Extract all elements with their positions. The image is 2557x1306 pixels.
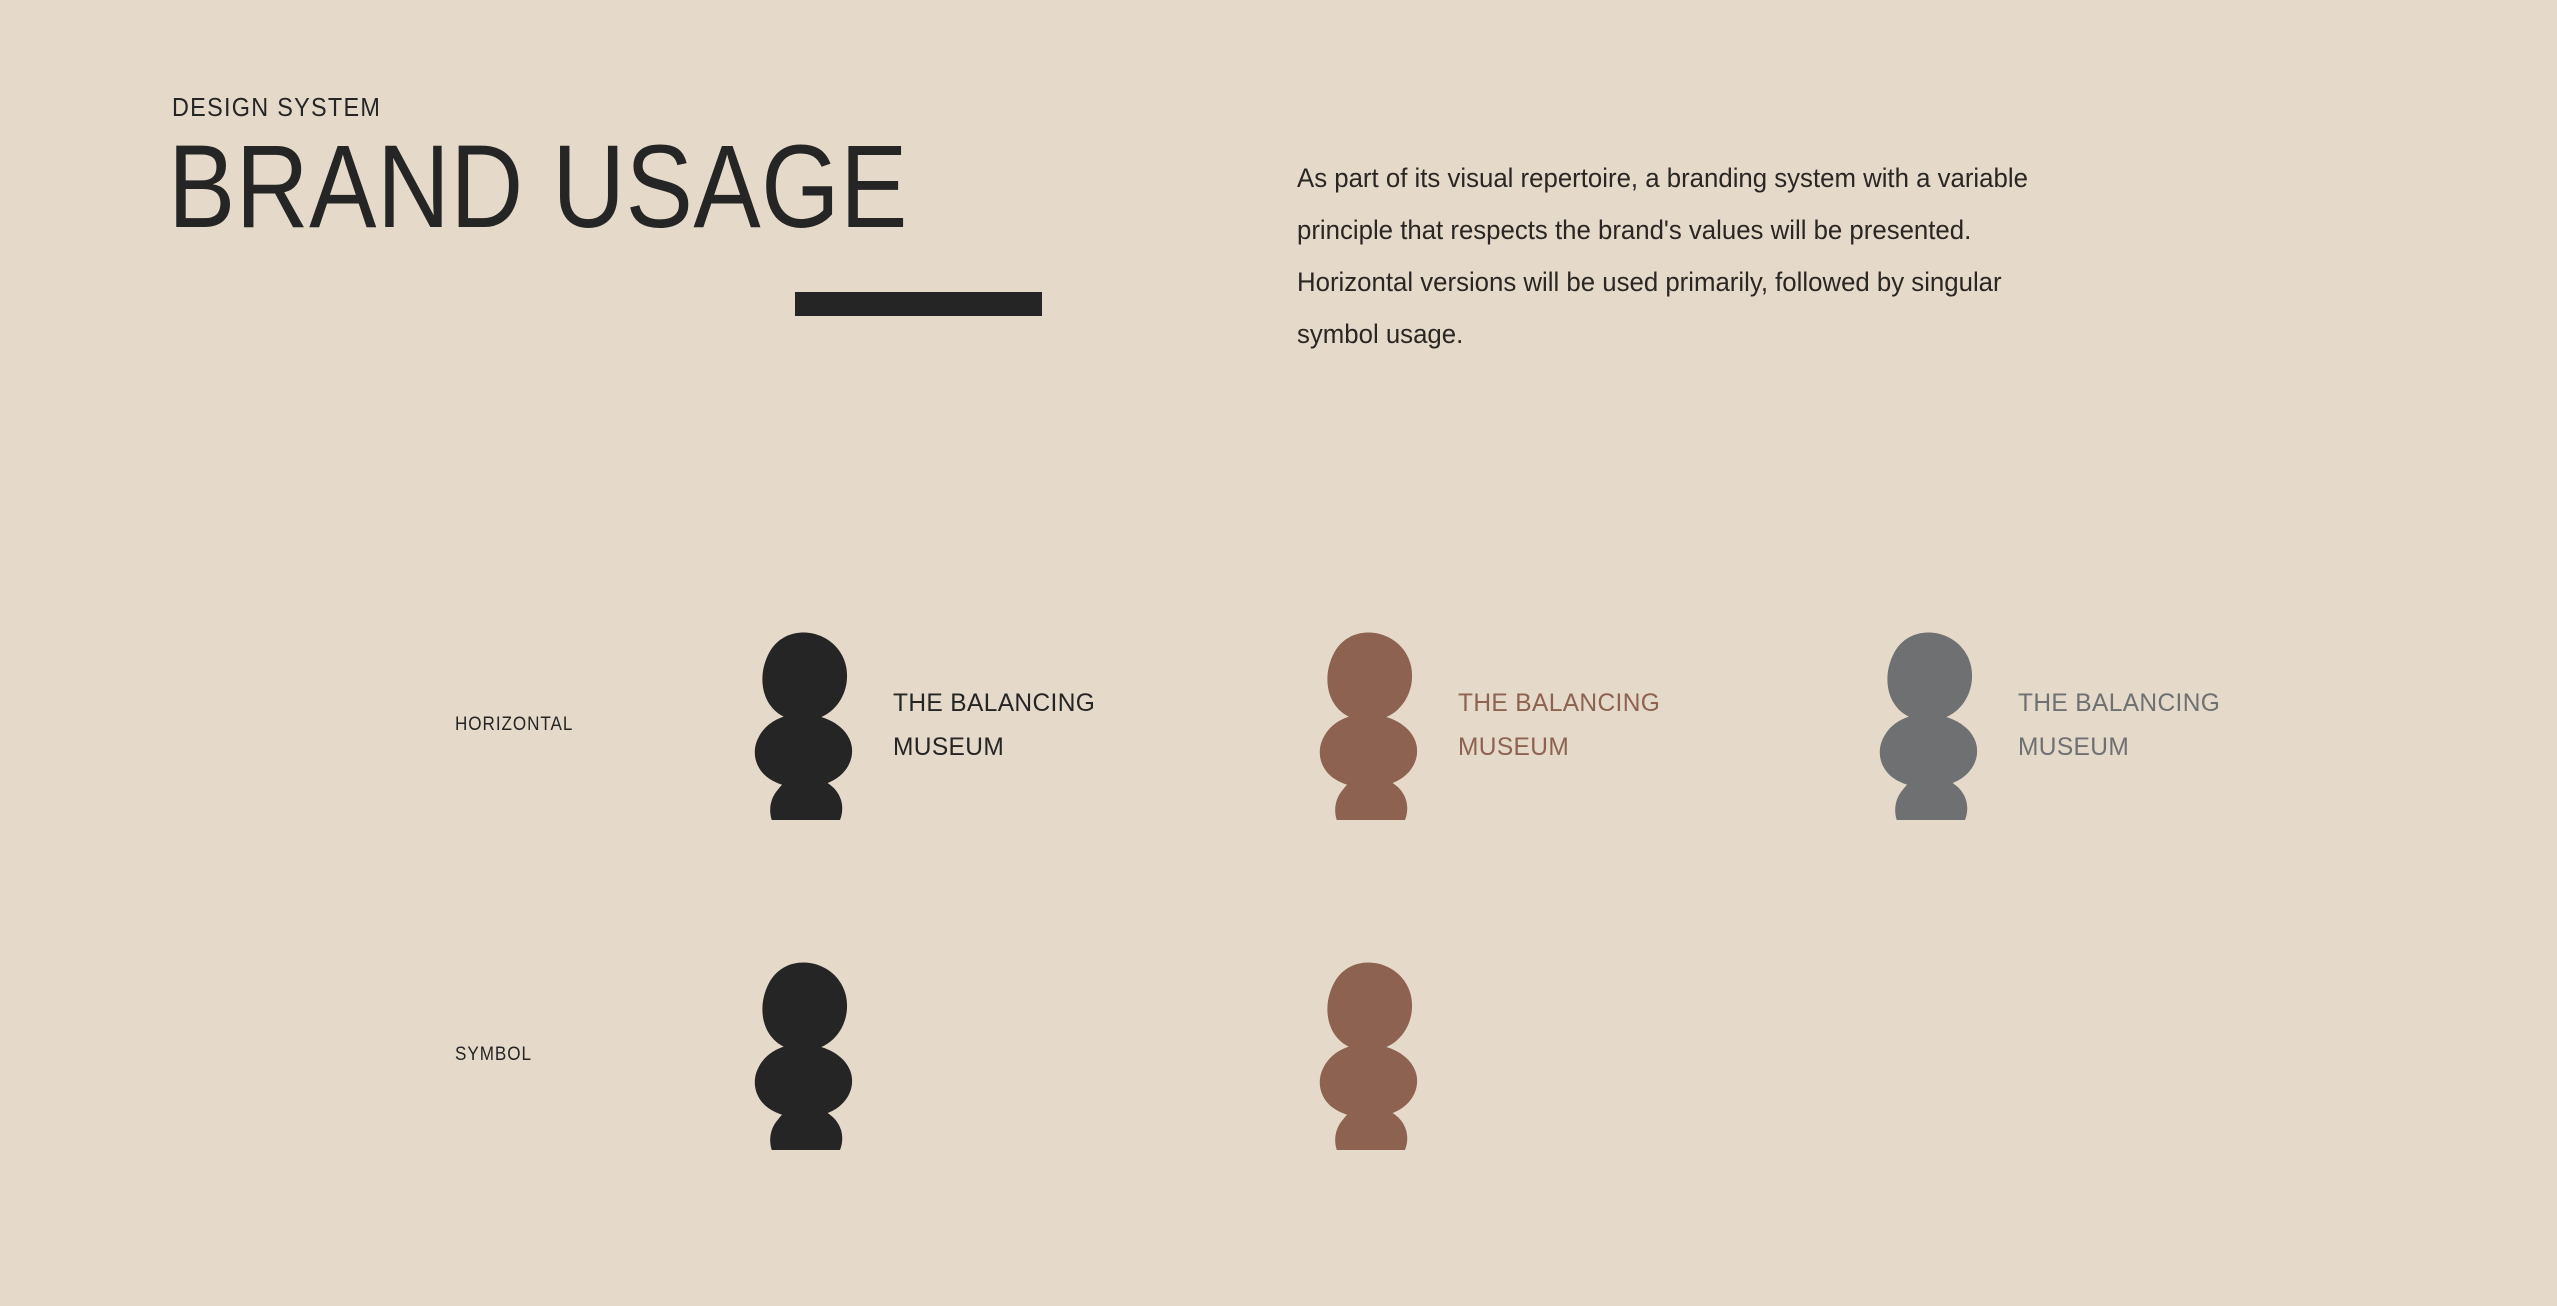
page-header: DESIGN SYSTEM BRAND USAGE As part of its…	[0, 0, 2557, 400]
wordmark-text-gray: THE BALANCING MUSEUM	[2018, 681, 2220, 769]
balancing-stones-icon	[1860, 630, 1992, 820]
row-label-horizontal: HORIZONTAL	[455, 714, 573, 736]
brand-usage-grid: HORIZONTAL THE BALANCING MUSEUM THE BALA…	[0, 560, 2557, 1220]
balancing-stones-icon	[735, 630, 867, 820]
logo-symbol-terracotta[interactable]	[1300, 960, 1432, 1150]
title-underline-rule	[795, 292, 1042, 316]
logo-lockup-horizontal-terracotta[interactable]: THE BALANCING MUSEUM	[1300, 630, 1664, 820]
intro-paragraph: As part of its visual repertoire, a bran…	[1297, 152, 2061, 360]
logo-lockup-horizontal-dark[interactable]: THE BALANCING MUSEUM	[735, 630, 1099, 820]
wordmark-text-dark: THE BALANCING MUSEUM	[893, 681, 1095, 769]
logo-lockup-horizontal-gray[interactable]: THE BALANCING MUSEUM	[1860, 630, 2224, 820]
page-title: BRAND USAGE	[168, 128, 908, 246]
logo-symbol-dark[interactable]	[735, 960, 867, 1150]
usage-row-horizontal: HORIZONTAL THE BALANCING MUSEUM THE BALA…	[0, 560, 2557, 890]
row-label-symbol: SYMBOL	[455, 1044, 532, 1066]
balancing-stones-icon	[1300, 960, 1432, 1150]
balancing-stones-icon	[1300, 630, 1432, 820]
eyebrow-label: DESIGN SYSTEM	[172, 92, 381, 123]
usage-row-symbol: SYMBOL	[0, 890, 2557, 1220]
wordmark-text-terracotta: THE BALANCING MUSEUM	[1458, 681, 1660, 769]
balancing-stones-icon	[735, 960, 867, 1150]
